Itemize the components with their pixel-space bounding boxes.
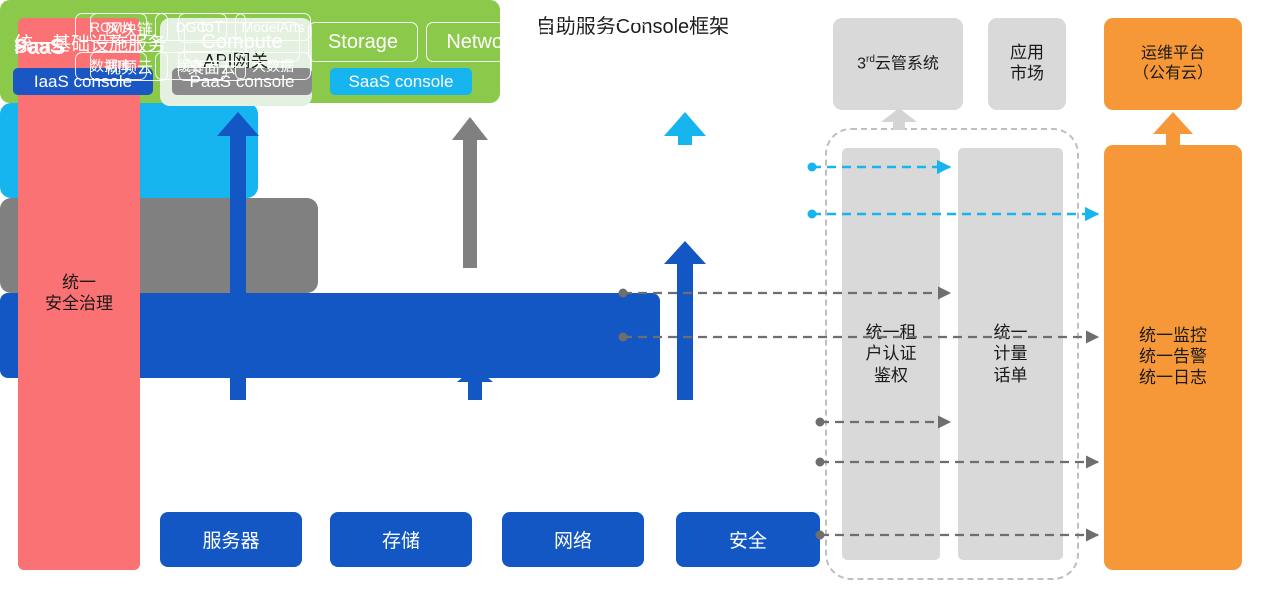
hardware-box-server: 服务器 — [160, 512, 302, 567]
third-party-cloud-mgmt-box: 3rd云管系统 — [833, 18, 963, 110]
ops-platform-box: 运维平台 （公有云） — [1104, 18, 1242, 110]
security-governance-label: 统一 安全治理 — [45, 273, 113, 314]
third-party-cloud-mgmt-label: 3rd云管系统 — [857, 54, 939, 74]
hardware-box-storage: 存储 — [330, 512, 472, 567]
unified-tenant-auth-label: 统一租 户认证 鉴权 — [866, 322, 917, 386]
arrow-paas-to-console — [452, 117, 488, 268]
architecture-diagram: 统一 安全治理 API网关 自助服务Console框架 IaaS console… — [0, 0, 1265, 605]
arrow-shared-to-third-party-cloud — [881, 108, 917, 130]
arrow-infra-to-saas — [664, 241, 706, 400]
unified-infrastructure-label: 统一基础设施服务 — [14, 0, 166, 85]
unified-metering-column: 统一 计量 话单 — [958, 148, 1063, 560]
ops-platform-panel: 统一监控 统一告警 统一日志 — [1104, 145, 1242, 570]
saas-console-chip[interactable]: SaaS console — [330, 68, 472, 95]
infra-chip-cce[interactable]: CCE — [548, 22, 646, 62]
app-market-box: 应用 市场 — [988, 18, 1066, 110]
infra-chip-storage[interactable]: Storage — [308, 22, 418, 62]
ops-platform-panel-label: 统一监控 统一告警 统一日志 — [1139, 326, 1207, 388]
ops-platform-label: 运维平台 （公有云） — [1133, 44, 1213, 83]
hardware-box-network: 网络 — [502, 512, 644, 567]
hardware-box-security: 安全 — [676, 512, 820, 567]
unified-tenant-auth-column: 统一租 户认证 鉴权 — [842, 148, 940, 560]
arrow-to-ops-platform — [1153, 112, 1193, 145]
infra-chip-compute[interactable]: Compute — [184, 22, 300, 62]
security-governance-panel: 统一 安全治理 — [18, 18, 140, 570]
unified-metering-label: 统一 计量 话单 — [994, 322, 1028, 386]
arrow-saas-to-console — [664, 112, 706, 145]
app-market-label: 应用 市场 — [1010, 43, 1044, 84]
infra-chip-network[interactable]: Network — [426, 22, 540, 62]
